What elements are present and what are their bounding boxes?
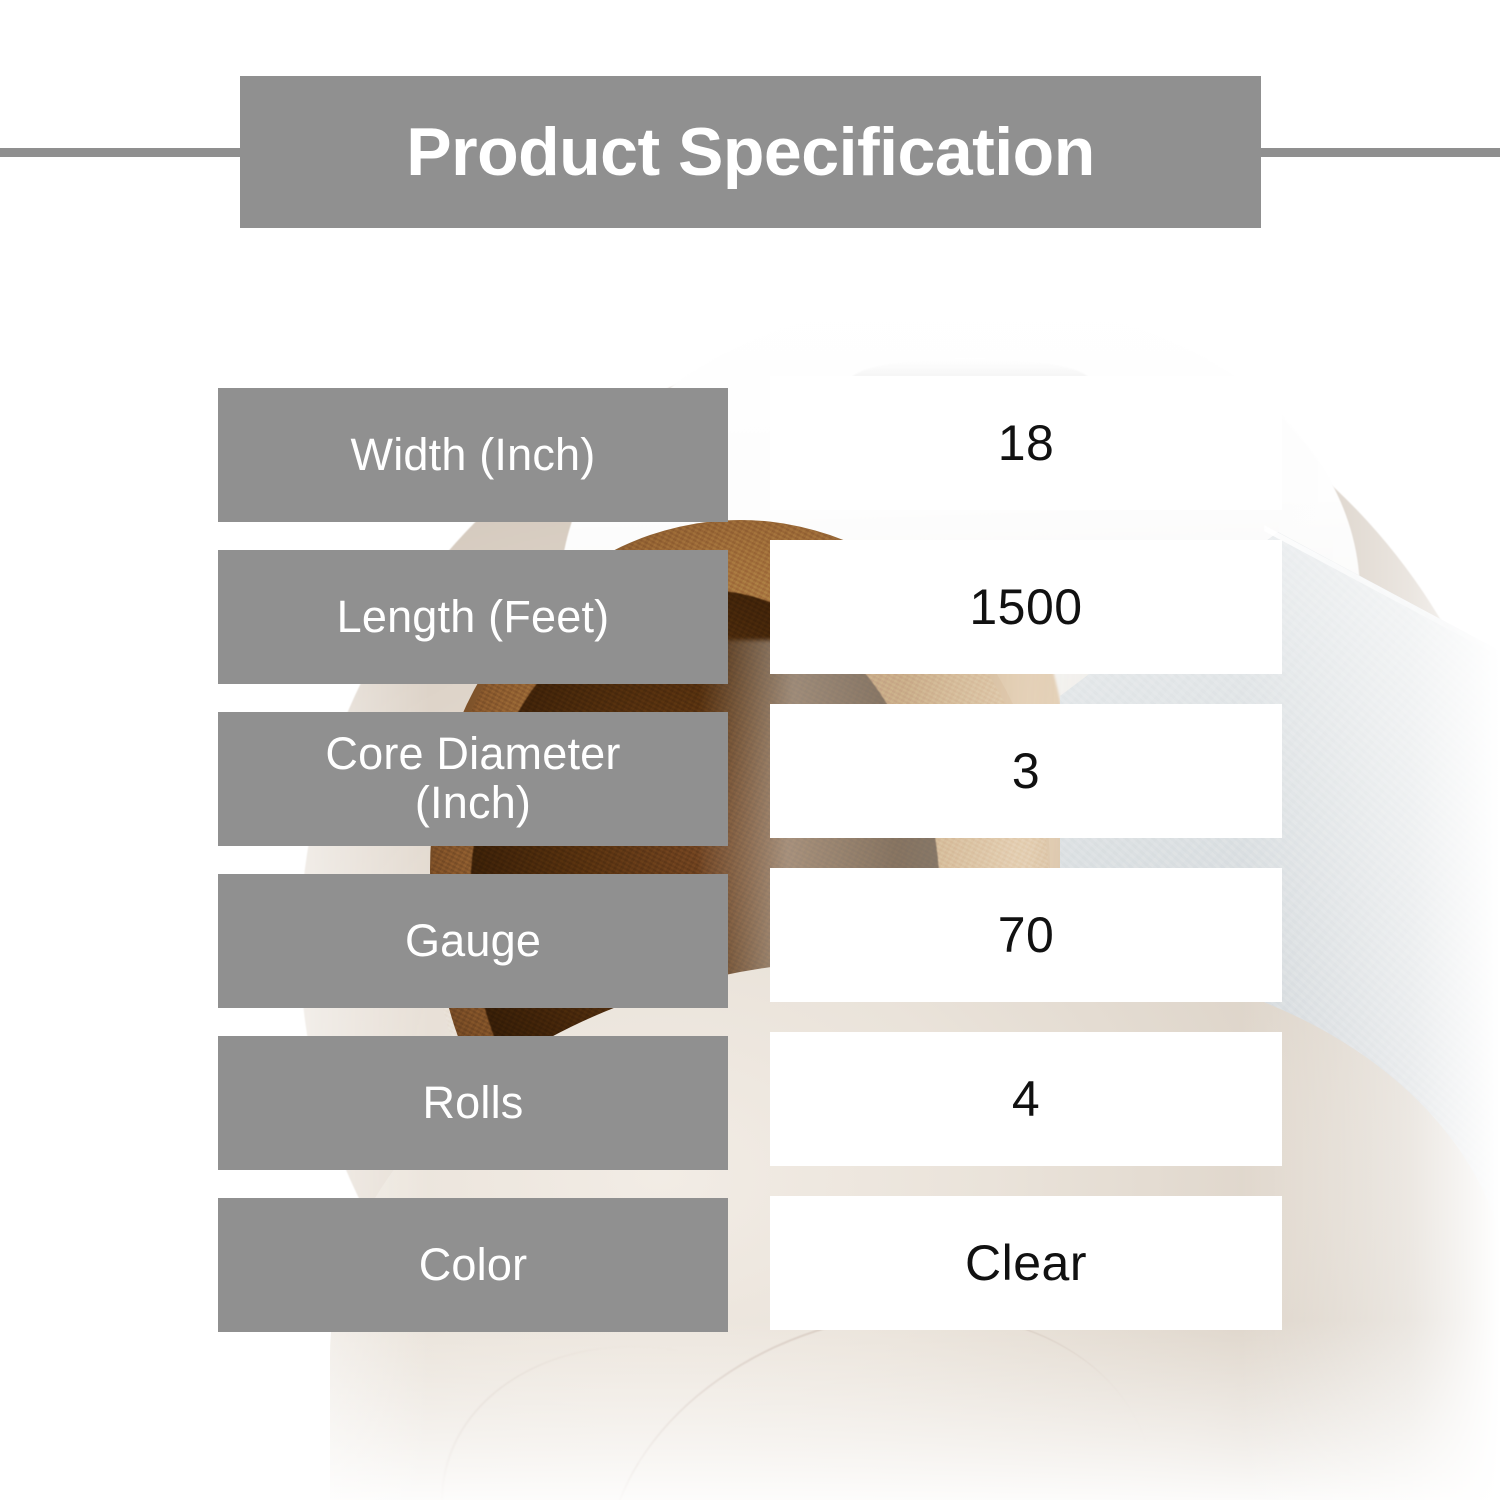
- spec-label-text: Color: [419, 1241, 528, 1290]
- spec-label-text-secondary: (Inch): [325, 779, 620, 828]
- spec-label-text: Length (Feet): [337, 593, 610, 642]
- specification-table: Width (Inch) 18 Length (Feet) 1500 Core …: [0, 0, 1500, 1500]
- spec-value-cell: 3: [770, 704, 1282, 838]
- spec-value-text: 3: [1012, 745, 1040, 798]
- spec-value-text: Clear: [965, 1237, 1087, 1290]
- spec-label-cell: Rolls: [218, 1036, 728, 1170]
- spec-label-cell: Core Diameter (Inch): [218, 712, 728, 846]
- spec-value-cell: 70: [770, 868, 1282, 1002]
- spec-label-text: Rolls: [422, 1079, 523, 1128]
- spec-value-cell: 4: [770, 1032, 1282, 1166]
- spec-value-text: 18: [998, 417, 1055, 470]
- spec-label-cell: Gauge: [218, 874, 728, 1008]
- spec-label-text: Core Diameter: [325, 730, 620, 779]
- spec-value-cell: 1500: [770, 540, 1282, 674]
- spec-value-cell: Clear: [770, 1196, 1282, 1330]
- spec-label-text: Gauge: [405, 917, 541, 966]
- spec-value-cell: 18: [770, 376, 1282, 510]
- spec-value-text: 4: [1012, 1073, 1040, 1126]
- spec-label-cell: Color: [218, 1198, 728, 1332]
- spec-value-text: 70: [998, 909, 1055, 962]
- spec-label-cell: Length (Feet): [218, 550, 728, 684]
- spec-label-text: Width (Inch): [351, 431, 596, 480]
- product-specification-page: Product Specification Width (Inch) 18 Le…: [0, 0, 1500, 1500]
- spec-value-text: 1500: [969, 581, 1082, 634]
- spec-label-block: Core Diameter (Inch): [325, 730, 620, 827]
- spec-label-cell: Width (Inch): [218, 388, 728, 522]
